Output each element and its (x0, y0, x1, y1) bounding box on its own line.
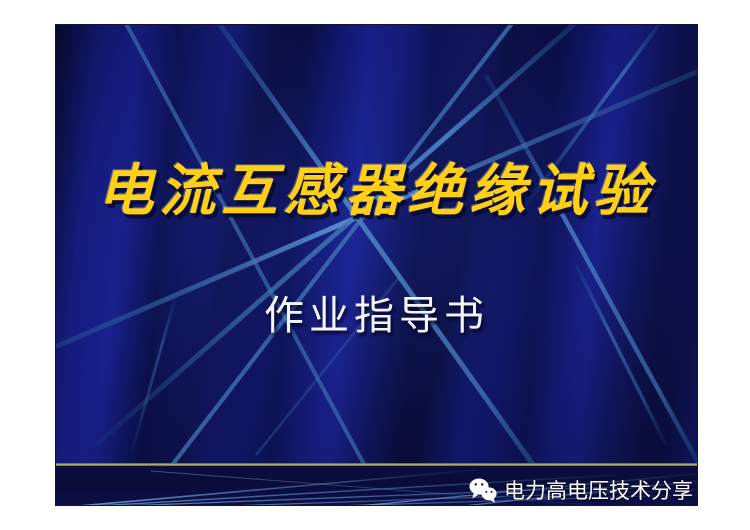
watermark: 电力高电压技术分享 (468, 475, 693, 505)
presentation-slide: 电流互感器绝缘试验 作业指导书 (56, 25, 697, 505)
slide-background-vignette (56, 25, 697, 505)
screenshot-canvas: 电流互感器绝缘试验 作业指导书 (0, 0, 750, 530)
watermark-text: 电力高电压技术分享 (504, 475, 693, 505)
footer-divider-line (56, 463, 697, 466)
wechat-icon (468, 477, 498, 503)
slide-subtitle: 作业指导书 (56, 283, 697, 341)
slide-title: 电流互感器绝缘试验 (56, 162, 697, 224)
